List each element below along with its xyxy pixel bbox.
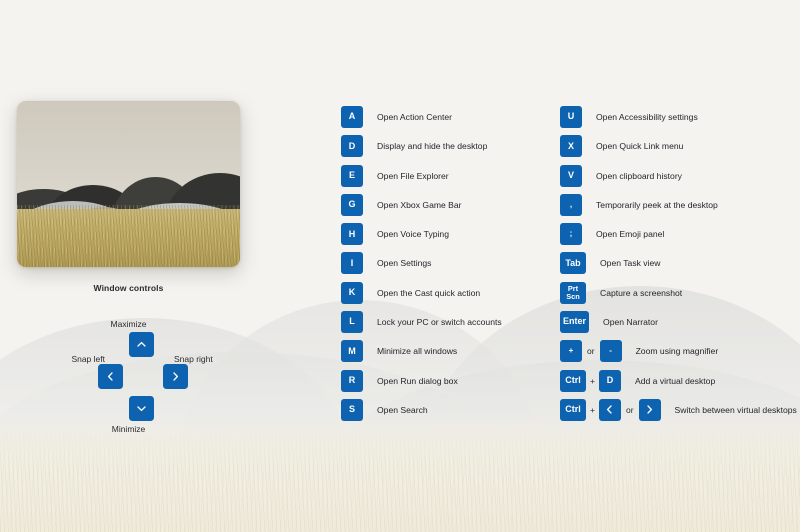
shortcut-row: Ctrl+DAdd a virtual desktop bbox=[560, 370, 800, 392]
wallpaper-grass-texture bbox=[17, 205, 240, 267]
shortcut-description: Open Action Center bbox=[377, 112, 452, 122]
key-d[interactable]: D bbox=[341, 135, 363, 157]
shortcut-row: HOpen Voice Typing bbox=[341, 223, 546, 245]
desktop-wallpaper-preview bbox=[17, 101, 240, 267]
window-controls-title: Window controls bbox=[17, 283, 240, 293]
shortcut-description: Open Emoji panel bbox=[596, 229, 664, 239]
shortcut-row: ROpen Run dialog box bbox=[341, 370, 546, 392]
minimize-label: Minimize bbox=[17, 424, 240, 434]
key-combo-plus: + bbox=[586, 405, 599, 415]
chevron-down-icon bbox=[136, 403, 147, 414]
shortcut-row: +or-Zoom using magnifier bbox=[560, 340, 800, 362]
snap-left-label: Snap left bbox=[43, 354, 105, 364]
shortcut-description: Add a virtual desktop bbox=[635, 376, 715, 386]
shortcut-row: IOpen Settings bbox=[341, 252, 546, 274]
key-l[interactable]: L bbox=[341, 311, 363, 333]
shortcut-description: Open Settings bbox=[377, 258, 431, 268]
key-x[interactable]: X bbox=[560, 135, 582, 157]
snap-left-key[interactable] bbox=[98, 364, 123, 389]
shortcut-row: VOpen clipboard history bbox=[560, 165, 800, 187]
shortcut-description: Display and hide the desktop bbox=[377, 141, 487, 151]
shortcut-description: Lock your PC or switch accounts bbox=[377, 317, 502, 327]
key-prt-scn[interactable]: Prt Scn bbox=[560, 282, 586, 304]
key-combo-plus: + bbox=[586, 376, 599, 386]
shortcut-row: EOpen File Explorer bbox=[341, 165, 546, 187]
shortcut-description: Temporarily peek at the desktop bbox=[596, 200, 718, 210]
shortcut-row: Ctrl+orSwitch between virtual desktops bbox=[560, 399, 800, 421]
shortcut-row: LLock your PC or switch accounts bbox=[341, 311, 546, 333]
key-ctrl[interactable]: Ctrl bbox=[560, 370, 586, 392]
key-g[interactable]: G bbox=[341, 194, 363, 216]
shortcut-row: SOpen Search bbox=[341, 399, 546, 421]
snap-right-key[interactable] bbox=[163, 364, 188, 389]
shortcut-description: Open the Cast quick action bbox=[377, 288, 480, 298]
key-ctrl[interactable]: Ctrl bbox=[560, 399, 586, 421]
minimize-key[interactable] bbox=[129, 396, 154, 421]
shortcut-row: ,Temporarily peek at the desktop bbox=[560, 194, 800, 216]
chevron-up-icon bbox=[136, 339, 147, 350]
shortcut-description: Switch between virtual desktops bbox=[675, 405, 797, 415]
key-e[interactable]: E bbox=[341, 165, 363, 187]
key-d[interactable]: D bbox=[599, 370, 621, 392]
chevron-left-icon bbox=[604, 404, 615, 415]
key-m[interactable]: M bbox=[341, 340, 363, 362]
key-,[interactable]: , bbox=[560, 194, 582, 216]
shortcut-reference-page: Window controls Maximize Minimize Snap l… bbox=[0, 0, 800, 532]
key-chevron-right-icon[interactable] bbox=[639, 399, 661, 421]
key-+[interactable]: + bbox=[560, 340, 582, 362]
shortcut-description: Open Quick Link menu bbox=[596, 141, 683, 151]
key-s[interactable]: S bbox=[341, 399, 363, 421]
key--[interactable]: - bbox=[600, 340, 622, 362]
shortcut-row: MMinimize all windows bbox=[341, 340, 546, 362]
shortcut-row: XOpen Quick Link menu bbox=[560, 135, 800, 157]
key-tab[interactable]: Tab bbox=[560, 252, 586, 274]
shortcut-row: AOpen Action Center bbox=[341, 106, 546, 128]
key-u[interactable]: U bbox=[560, 106, 582, 128]
maximize-label: Maximize bbox=[17, 319, 240, 329]
shortcut-description: Open Xbox Game Bar bbox=[377, 200, 462, 210]
chevron-right-icon bbox=[644, 404, 655, 415]
window-controls-diagram: Window controls Maximize Minimize Snap l… bbox=[17, 283, 240, 433]
key-combo-or: or bbox=[621, 405, 639, 415]
key-i[interactable]: I bbox=[341, 252, 363, 274]
shortcut-description: Capture a screenshot bbox=[600, 288, 682, 298]
key-chevron-left-icon[interactable] bbox=[599, 399, 621, 421]
shortcut-row: GOpen Xbox Game Bar bbox=[341, 194, 546, 216]
key-h[interactable]: H bbox=[341, 223, 363, 245]
key-r[interactable]: R bbox=[341, 370, 363, 392]
key-enter[interactable]: Enter bbox=[560, 311, 589, 333]
shortcut-row: DDisplay and hide the desktop bbox=[341, 135, 546, 157]
shortcut-description: Zoom using magnifier bbox=[636, 346, 719, 356]
shortcut-row: EnterOpen Narrator bbox=[560, 311, 800, 333]
shortcut-description: Open Narrator bbox=[603, 317, 658, 327]
shortcut-column-right: UOpen Accessibility settingsXOpen Quick … bbox=[560, 106, 800, 428]
shortcut-row: Prt ScnCapture a screenshot bbox=[560, 282, 800, 304]
background-grass-texture bbox=[0, 430, 800, 532]
chevron-right-icon bbox=[170, 371, 181, 382]
chevron-left-icon bbox=[105, 371, 116, 382]
shortcut-description: Open Task view bbox=[600, 258, 661, 268]
shortcut-description: Open File Explorer bbox=[377, 171, 449, 181]
shortcut-description: Open Search bbox=[377, 405, 428, 415]
shortcut-row: UOpen Accessibility settings bbox=[560, 106, 800, 128]
key-a[interactable]: A bbox=[341, 106, 363, 128]
key-;[interactable]: ; bbox=[560, 223, 582, 245]
key-v[interactable]: V bbox=[560, 165, 582, 187]
shortcut-row: KOpen the Cast quick action bbox=[341, 282, 546, 304]
shortcut-description: Minimize all windows bbox=[377, 346, 457, 356]
shortcut-row: TabOpen Task view bbox=[560, 252, 800, 274]
shortcut-description: Open Voice Typing bbox=[377, 229, 449, 239]
key-combo-or: or bbox=[582, 346, 600, 356]
snap-right-label: Snap right bbox=[174, 354, 238, 364]
shortcut-description: Open Accessibility settings bbox=[596, 112, 698, 122]
shortcut-description: Open Run dialog box bbox=[377, 376, 458, 386]
shortcut-column-left: AOpen Action CenterDDisplay and hide the… bbox=[341, 106, 546, 428]
shortcut-description: Open clipboard history bbox=[596, 171, 682, 181]
key-k[interactable]: K bbox=[341, 282, 363, 304]
maximize-key[interactable] bbox=[129, 332, 154, 357]
shortcut-row: ;Open Emoji panel bbox=[560, 223, 800, 245]
